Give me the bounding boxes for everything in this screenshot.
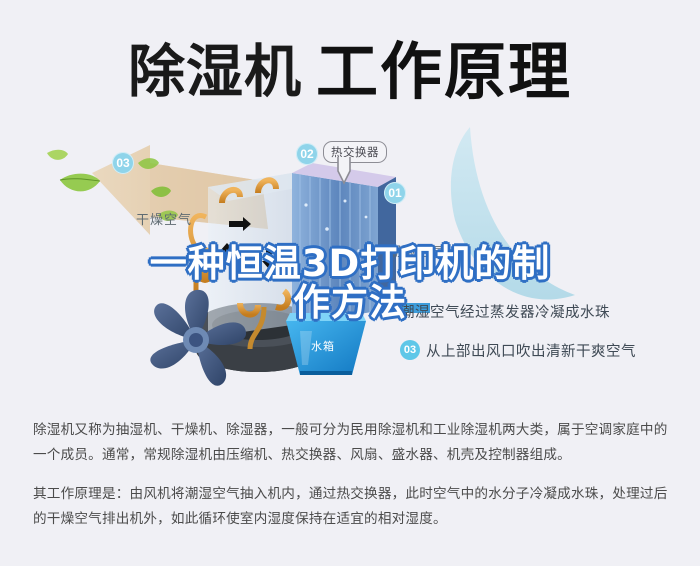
callout-pointer-icon (330, 157, 370, 187)
caption-step-03: 从上部出风口吹出清新干爽空气 (426, 340, 636, 361)
description-paragraph-1: 除湿机又称为抽湿机、干燥机、除湿器，一般可分为民用除湿机和工业除湿机两大类，属于… (33, 418, 673, 468)
label-humid-air: 潮湿空气 (388, 241, 444, 260)
humid-air-arc (451, 127, 575, 300)
page-title: 除湿机 工作原理 (0, 30, 700, 115)
description-paragraph-2: 其工作原理是：由风机将潮湿空气抽入机内，通过热交换器，此时空气中的水分子冷凝成水… (33, 482, 673, 532)
badge-03-dry-air: 03 (112, 152, 134, 174)
caption-badge-03: 03 (400, 340, 420, 360)
badge-02-heat-exchanger: 02 (296, 143, 318, 165)
label-dry-air: 干燥空气 (136, 209, 192, 228)
label-water-tank: 水箱 (311, 338, 335, 354)
caption-step-02: 潮湿空气经过蒸发器冷凝成水珠 (400, 301, 610, 322)
infographic-page: 除湿机 工作原理 (0, 0, 700, 566)
title-part-2: 工作原理 (316, 42, 572, 104)
title-part-1: 除湿机 (128, 44, 302, 101)
dehumidifier-diagram: 03 干燥空气 02 热交换器 01 潮湿空气 水箱 (0, 125, 700, 410)
badge-01-humid-air: 01 (384, 182, 406, 204)
